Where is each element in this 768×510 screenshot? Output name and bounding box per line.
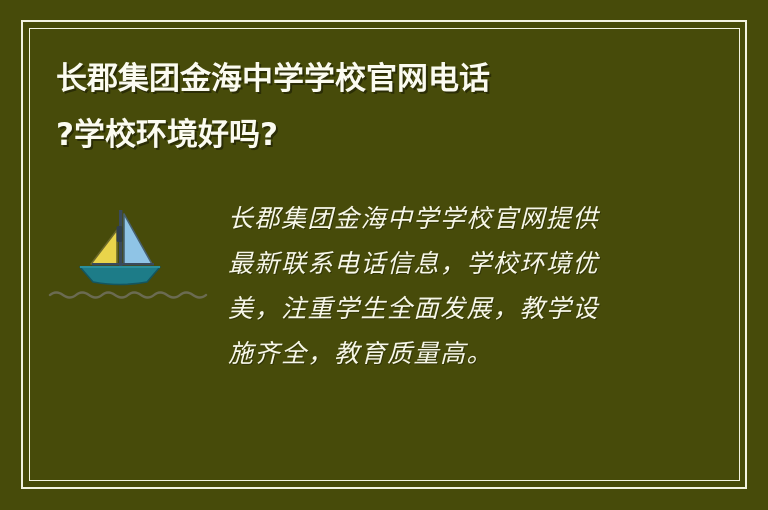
- content-row: 长郡集团金海中学学校官网提供 最新联系电话信息，学校环境优 美，注重学生全面发展…: [48, 196, 712, 376]
- body-line-1: 长郡集团金海中学学校官网提供: [228, 196, 712, 241]
- body-line-4: 施齐全，教育质量高。: [228, 331, 712, 376]
- page-title-line-1: 长郡集团金海中学学校官网电话: [56, 56, 656, 102]
- poster-canvas: 长郡集团金海中学学校官网电话 ?学校环境好吗?: [0, 0, 768, 510]
- body-paragraph: 长郡集团金海中学学校官网提供 最新联系电话信息，学校环境优 美，注重学生全面发展…: [228, 196, 712, 376]
- page-title: 长郡集团金海中学学校官网电话 ?学校环境好吗?: [56, 56, 656, 158]
- sailboat-icon: [48, 202, 208, 302]
- sailboat-illustration: [48, 196, 218, 302]
- body-line-2: 最新联系电话信息，学校环境优: [228, 241, 712, 286]
- body-line-3: 美，注重学生全面发展，教学设: [228, 286, 712, 331]
- page-title-line-2: ?学校环境好吗?: [56, 112, 656, 158]
